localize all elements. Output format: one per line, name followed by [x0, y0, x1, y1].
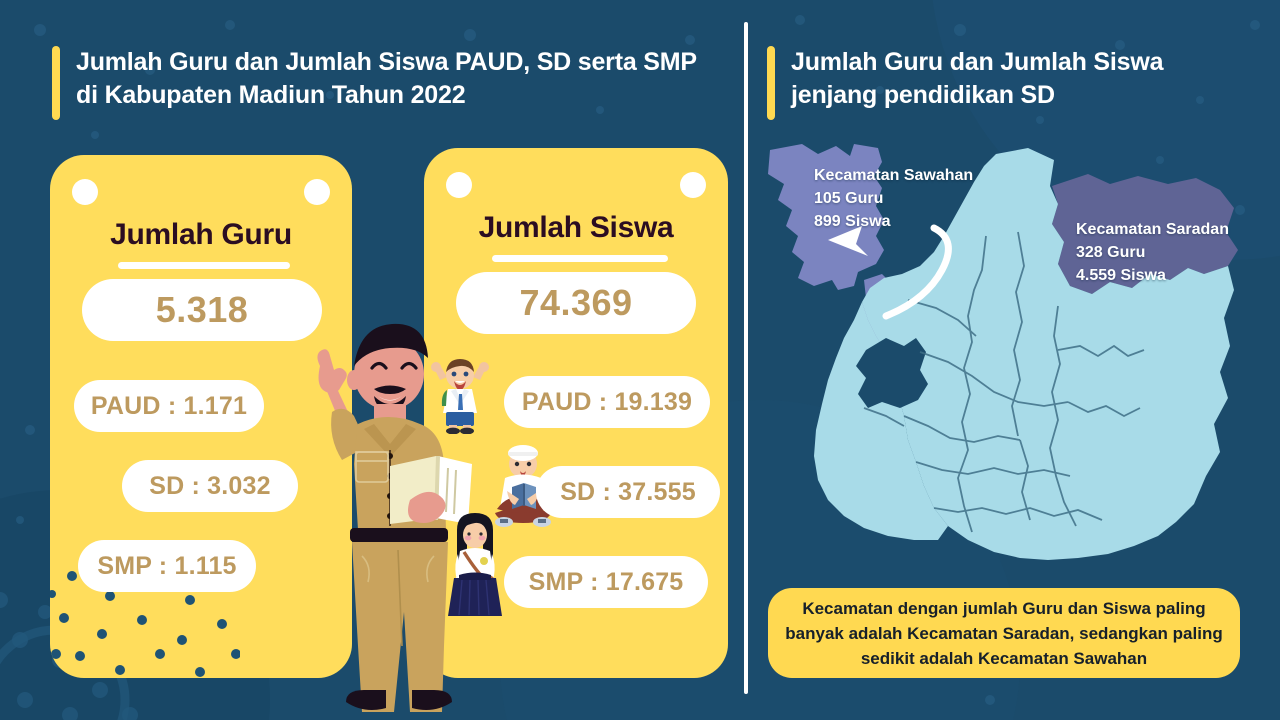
left-panel-title: Jumlah Guru dan Jumlah Siswa PAUD, SD se…	[52, 46, 712, 120]
card-guru-item-paud: PAUD : 1.171	[74, 380, 264, 432]
map-label-saradan-teachers: 328 Guru	[1076, 241, 1229, 264]
map-caption-text: Kecamatan dengan jumlah Guru dan Siswa p…	[782, 596, 1226, 671]
left-panel: Jumlah Guru dan Jumlah Siswa PAUD, SD se…	[0, 0, 745, 720]
card-siswa-item-smp: SMP : 17.675	[504, 556, 708, 608]
title-accent-bar	[767, 46, 775, 120]
card-guru-item-sd: SD : 3.032	[122, 460, 298, 512]
left-panel-title-text: Jumlah Guru dan Jumlah Siswa PAUD, SD se…	[76, 46, 712, 112]
card-guru-rule	[118, 262, 290, 269]
card-siswa-rule	[492, 255, 668, 262]
right-panel-title: Jumlah Guru dan Jumlah Siswa jenjang pen…	[767, 46, 1237, 120]
panel-divider	[744, 22, 748, 694]
map-label-sawahan-district: Kecamatan Sawahan	[814, 164, 973, 187]
card-guru-title: Jumlah Guru	[50, 218, 352, 252]
card-guru-item-smp: SMP : 1.115	[78, 540, 256, 592]
card-hole-left-icon	[446, 172, 472, 198]
student-paud-illustration	[428, 358, 492, 434]
card-siswa-item-paud: PAUD : 19.139	[504, 376, 710, 428]
map-label-saradan: Kecamatan Saradan 328 Guru 4.559 Siswa	[1076, 218, 1229, 287]
card-siswa-item-sd: SD : 37.555	[536, 466, 720, 518]
card-siswa-total: 74.369	[456, 272, 696, 334]
map-label-saradan-district: Kecamatan Saradan	[1076, 218, 1229, 241]
right-panel-title-text: Jumlah Guru dan Jumlah Siswa jenjang pen…	[791, 46, 1237, 112]
map-label-sawahan: Kecamatan Sawahan 105 Guru 899 Siswa	[814, 164, 973, 233]
card-hole-right-icon	[680, 172, 706, 198]
title-accent-bar	[52, 46, 60, 120]
map-caption-box: Kecamatan dengan jumlah Guru dan Siswa p…	[768, 588, 1240, 678]
map-label-sawahan-teachers: 105 Guru	[814, 187, 973, 210]
card-siswa-title: Jumlah Siswa	[424, 211, 728, 245]
map-label-sawahan-students: 899 Siswa	[814, 210, 973, 233]
student-smp-illustration	[444, 512, 506, 618]
map-label-saradan-students: 4.559 Siswa	[1076, 264, 1229, 287]
card-hole-left-icon	[72, 179, 98, 205]
card-hole-right-icon	[304, 179, 330, 205]
